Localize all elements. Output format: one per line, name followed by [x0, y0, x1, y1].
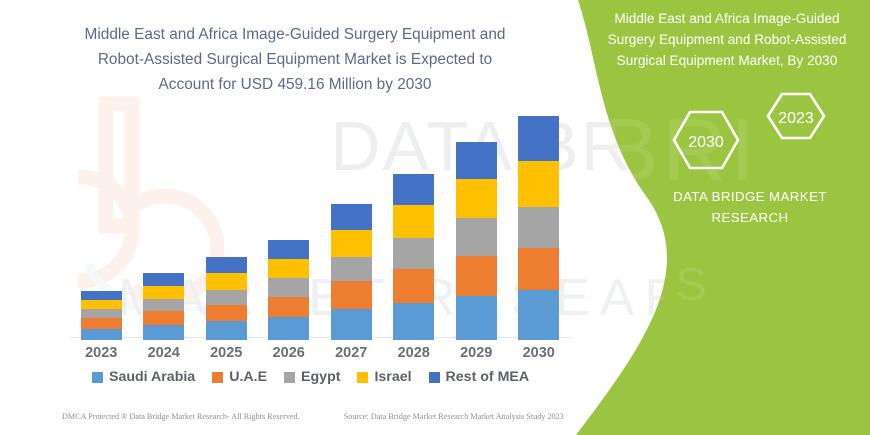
bar-segment-egypt — [331, 257, 372, 282]
legend-item-saudi-arabia[interactable]: Saudi Arabia — [92, 369, 195, 385]
hexagon-2030-label: 2030 — [688, 134, 724, 151]
legend-label: U.A.E — [229, 369, 267, 385]
title-line-3: Account for USD 459.16 Million by 2030 — [60, 72, 530, 97]
bar-segment-saudi-arabia — [393, 303, 434, 340]
bar-segment-egypt — [456, 218, 497, 255]
bar-segment-saudi-arabia — [518, 290, 559, 340]
right-panel-title-line-1: Middle East and Africa Image-Guided — [596, 8, 858, 29]
bar-segment-saudi-arabia — [268, 317, 309, 340]
bar-segment-rest-of-mea — [456, 142, 497, 179]
bar-segment-israel — [206, 273, 247, 289]
brand-line-2: RESEARCH — [650, 207, 850, 228]
infographic-canvas: DATA BRIDGE MARKET RESEARCH BRI RES Midd… — [0, 0, 870, 435]
bar-segment-u-a-e — [206, 305, 247, 321]
brand-line-1: DATA BRIDGE MARKET — [650, 186, 850, 207]
legend-item-israel[interactable]: Israel — [357, 369, 411, 385]
bar-segment-rest-of-mea — [331, 204, 372, 230]
bar-2029[interactable] — [456, 142, 497, 340]
hexagon-year-badges: 2023 2030 — [660, 84, 860, 184]
bar-segment-israel — [393, 205, 434, 238]
bar-segment-egypt — [518, 207, 559, 248]
bar-segment-u-a-e — [81, 318, 122, 328]
right-panel-title-line-2: Surgery Equipment and Robot-Assisted — [596, 29, 858, 50]
bar-segment-rest-of-mea — [393, 174, 434, 205]
bar-segment-israel — [456, 179, 497, 218]
x-axis-label-2027: 2027 — [323, 345, 379, 361]
bar-segment-rest-of-mea — [268, 240, 309, 259]
legend-swatch-icon — [92, 372, 103, 383]
bar-2028[interactable] — [393, 174, 434, 340]
bar-segment-u-a-e — [518, 248, 559, 289]
footer-source: Source: Data Bridge Market Research Mark… — [344, 412, 564, 421]
legend-swatch-icon — [212, 372, 223, 383]
bar-segment-egypt — [143, 299, 184, 311]
bar-segment-saudi-arabia — [81, 329, 122, 340]
footer-copyright: DMCA Protected ® Data Bridge Market Rese… — [62, 412, 300, 421]
legend-item-egypt[interactable]: Egypt — [284, 369, 340, 385]
bar-segment-israel — [143, 286, 184, 298]
legend-swatch-icon — [357, 372, 368, 383]
bar-segment-saudi-arabia — [331, 309, 372, 340]
bar-2024[interactable] — [143, 273, 184, 340]
bar-segment-egypt — [81, 309, 122, 318]
bar-segment-rest-of-mea — [143, 273, 184, 286]
x-axis-label-2025: 2025 — [198, 345, 254, 361]
bar-segment-egypt — [393, 238, 434, 269]
bar-segment-saudi-arabia — [143, 325, 184, 340]
bar-2026[interactable] — [268, 240, 309, 340]
bar-segment-rest-of-mea — [206, 257, 247, 273]
legend-label: Rest of MEA — [446, 369, 530, 385]
legend-item-rest-of-mea[interactable]: Rest of MEA — [429, 369, 530, 385]
legend-label: Egypt — [301, 369, 340, 385]
chart-legend: Saudi ArabiaU.A.EEgyptIsraelRest of MEA — [92, 369, 529, 385]
bar-segment-rest-of-mea — [518, 116, 559, 160]
bar-segment-egypt — [206, 290, 247, 305]
hexagon-2023-badge: 2023 — [768, 94, 824, 138]
right-panel-title-line-3: Surgical Equipment Market, By 2030 — [596, 50, 858, 71]
bar-segment-u-a-e — [393, 269, 434, 303]
bar-segment-saudi-arabia — [456, 296, 497, 340]
svg-text:RES: RES — [592, 258, 717, 310]
bar-segment-u-a-e — [268, 297, 309, 318]
bar-segment-u-a-e — [143, 311, 184, 324]
x-axis-label-2029: 2029 — [448, 345, 504, 361]
page-title: Middle East and Africa Image-Guided Surg… — [60, 22, 530, 97]
right-panel-brand: DATA BRIDGE MARKET RESEARCH — [650, 186, 850, 228]
chart-x-axis-labels: 20232024202520262027202820292030 — [70, 345, 572, 367]
hexagon-2030-badge: 2030 — [674, 112, 738, 168]
legend-swatch-icon — [429, 372, 440, 383]
bar-segment-israel — [518, 161, 559, 207]
x-axis-label-2026: 2026 — [261, 345, 317, 361]
legend-label: Israel — [374, 369, 411, 385]
legend-label: Saudi Arabia — [109, 369, 195, 385]
bar-2027[interactable] — [331, 204, 372, 340]
bar-2025[interactable] — [206, 257, 247, 340]
bar-segment-saudi-arabia — [206, 321, 247, 340]
x-axis-label-2023: 2023 — [73, 345, 129, 361]
bar-2030[interactable] — [518, 116, 559, 340]
bar-segment-u-a-e — [331, 281, 372, 309]
bar-segment-rest-of-mea — [81, 291, 122, 300]
legend-swatch-icon — [284, 372, 295, 383]
bar-2023[interactable] — [81, 291, 122, 340]
right-panel-title: Middle East and Africa Image-Guided Surg… — [596, 8, 858, 71]
x-axis-label-2024: 2024 — [136, 345, 192, 361]
x-axis-label-2030: 2030 — [511, 345, 567, 361]
hexagon-2023-label: 2023 — [778, 110, 814, 127]
bar-segment-israel — [331, 230, 372, 257]
title-line-1: Middle East and Africa Image-Guided Surg… — [60, 22, 530, 47]
footer: DMCA Protected ® Data Bridge Market Rese… — [62, 412, 582, 421]
x-axis-label-2028: 2028 — [386, 345, 442, 361]
title-line-2: Robot-Assisted Surgical Equipment Market… — [60, 47, 530, 72]
bar-segment-israel — [268, 259, 309, 279]
bar-segment-egypt — [268, 278, 309, 297]
legend-item-u-a-e[interactable]: U.A.E — [212, 369, 267, 385]
bar-segment-israel — [81, 300, 122, 309]
stacked-bar-chart — [70, 100, 570, 340]
bar-segment-u-a-e — [456, 256, 497, 296]
